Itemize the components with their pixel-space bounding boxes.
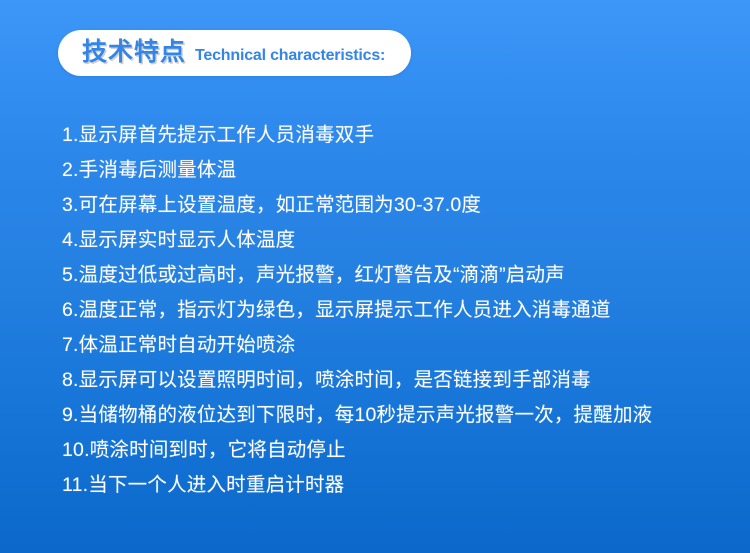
feature-list-item: 2.手消毒后测量体温 [62, 153, 730, 188]
section-title-english: Technical characteristics: [195, 48, 385, 64]
feature-list-item: 4.显示屏实时显示人体温度 [62, 223, 730, 258]
feature-item-text: 显示屏可以设置照明时间，喷涂时间，是否链接到手部消毒 [79, 369, 591, 391]
feature-list-item: 7.体温正常时自动开始喷涂 [62, 328, 730, 363]
feature-list-item: 11.当下一个人进入时重启计时器 [62, 468, 730, 503]
feature-item-number: 6. [62, 299, 79, 321]
feature-list-item: 1.显示屏首先提示工作人员消毒双手 [62, 118, 730, 153]
feature-item-number: 5. [62, 264, 79, 286]
feature-item-number: 10. [62, 439, 90, 461]
feature-item-number: 3. [62, 194, 79, 216]
feature-item-text: 当储物桶的液位达到下限时，每10秒提示声光报警一次，提醒加液 [79, 404, 653, 426]
feature-item-number: 8. [62, 369, 79, 391]
feature-item-text: 显示屏首先提示工作人员消毒双手 [79, 124, 375, 146]
section-title-chinese: 技术特点 [82, 40, 186, 65]
feature-item-text: 手消毒后测量体温 [79, 159, 237, 181]
feature-item-text: 可在屏幕上设置温度，如正常范围为30-37.0度 [79, 194, 481, 216]
feature-list-item: 3.可在屏幕上设置温度，如正常范围为30-37.0度 [62, 188, 730, 223]
promo-poster: 技术特点 Technical characteristics: 1.显示屏首先提… [0, 0, 750, 553]
feature-list-item: 8.显示屏可以设置照明时间，喷涂时间，是否链接到手部消毒 [62, 363, 730, 398]
feature-item-text: 当下一个人进入时重启计时器 [88, 474, 344, 496]
feature-item-number: 11. [62, 474, 88, 496]
feature-item-number: 4. [62, 229, 79, 251]
feature-item-text: 温度正常，指示灯为绿色，显示屏提示工作人员进入消毒通道 [79, 299, 611, 321]
section-title-badge: 技术特点 Technical characteristics: [58, 30, 411, 76]
feature-item-text: 温度过低或过高时，声光报警，红灯警告及“滴滴”启动声 [79, 264, 565, 286]
feature-item-text: 喷涂时间到时，它将自动停止 [90, 439, 346, 461]
feature-list-item: 5.温度过低或过高时，声光报警，红灯警告及“滴滴”启动声 [62, 258, 730, 293]
feature-item-text: 体温正常时自动开始喷涂 [79, 334, 296, 356]
feature-item-number: 2. [62, 159, 79, 181]
feature-item-number: 9. [62, 404, 79, 426]
feature-list-item: 9.当储物桶的液位达到下限时，每10秒提示声光报警一次，提醒加液 [62, 398, 730, 433]
feature-item-number: 7. [62, 334, 79, 356]
feature-item-number: 1. [62, 124, 79, 146]
feature-list-item: 6.温度正常，指示灯为绿色，显示屏提示工作人员进入消毒通道 [62, 293, 730, 328]
feature-list: 1.显示屏首先提示工作人员消毒双手2.手消毒后测量体温3.可在屏幕上设置温度，如… [62, 118, 730, 503]
feature-item-text: 显示屏实时显示人体温度 [79, 229, 296, 251]
feature-list-item: 10.喷涂时间到时，它将自动停止 [62, 433, 730, 468]
